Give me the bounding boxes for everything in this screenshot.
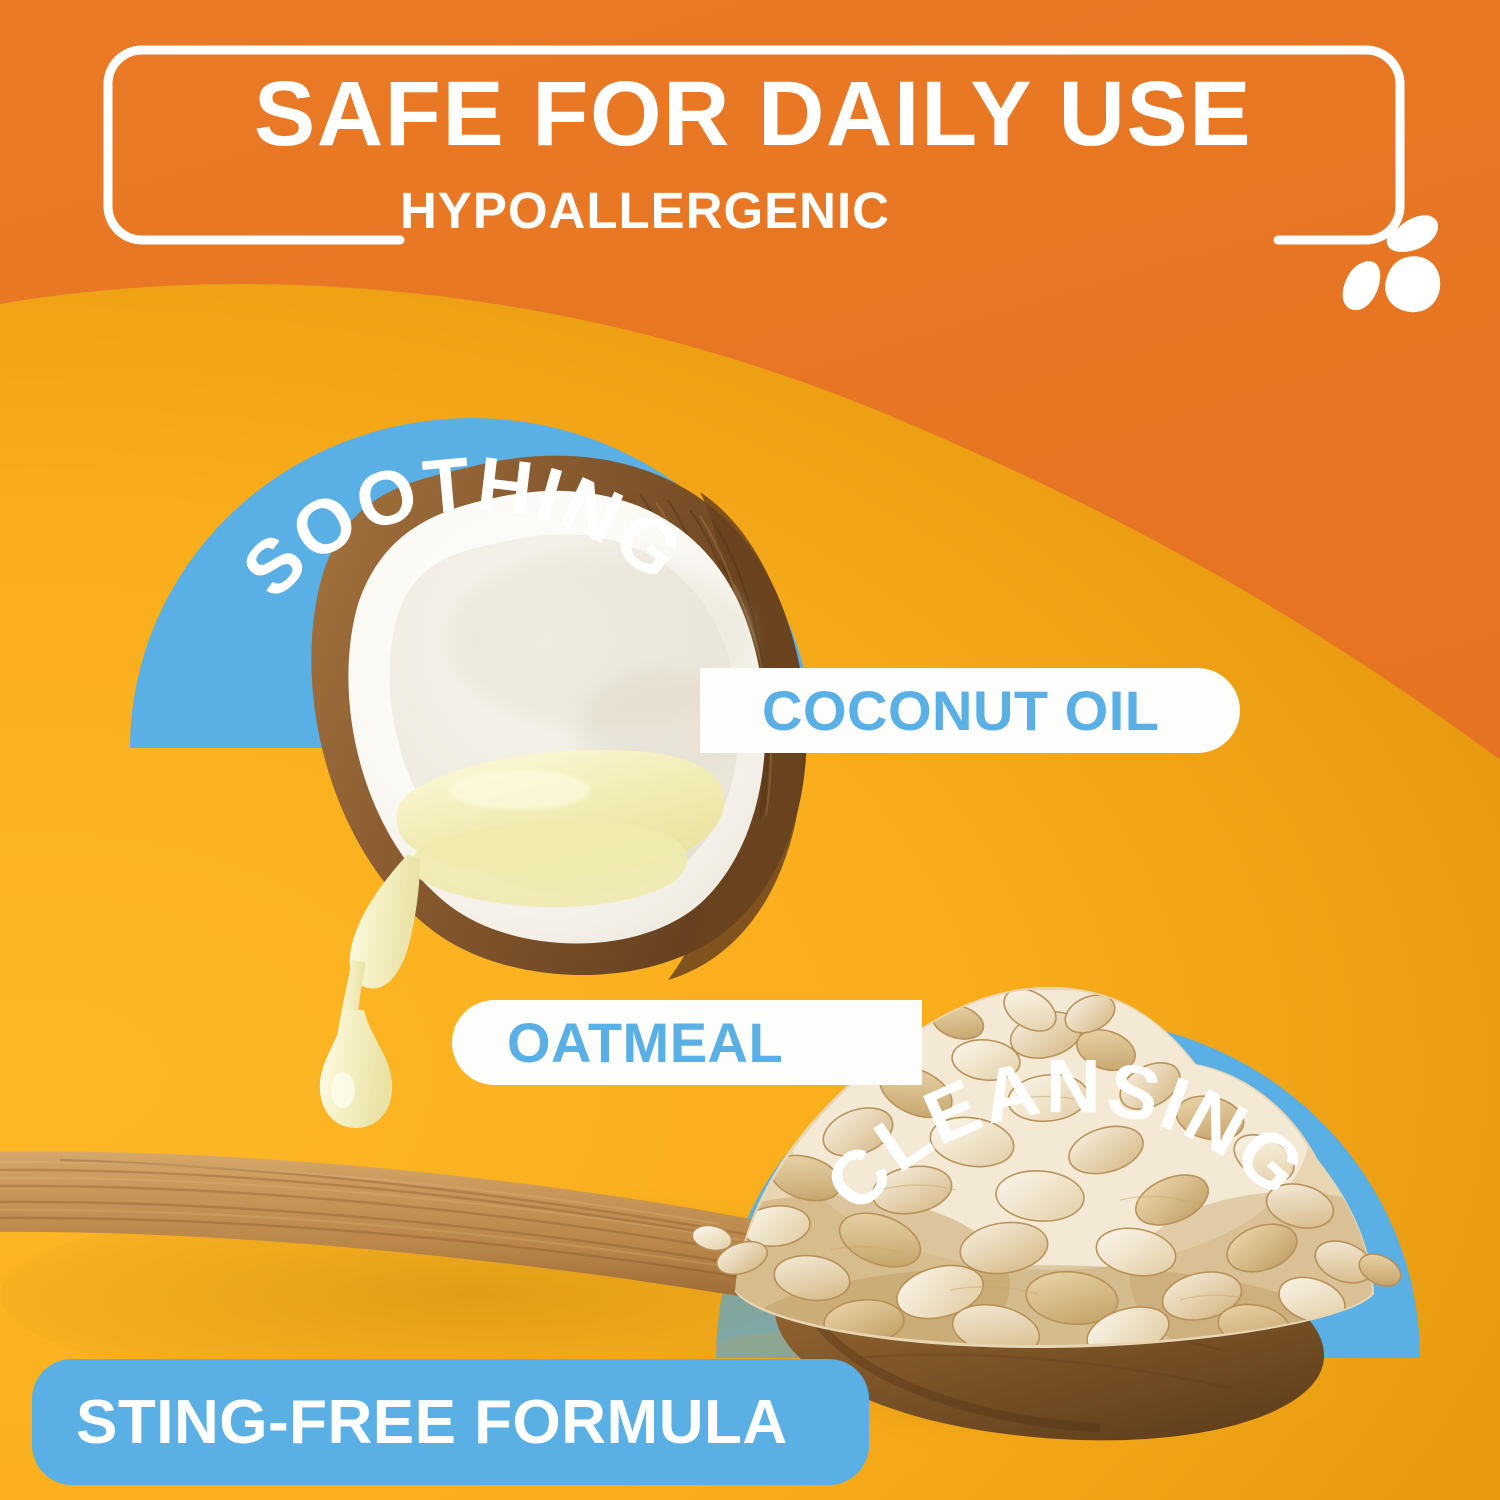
infographic-canvas: SOOTHING CLEANSING SAFE FOR DAILY USE HY… — [0, 0, 1500, 1500]
sting-free-formula-banner: STING-FREE FORMULA — [32, 1359, 869, 1485]
page-title: SAFE FOR DAILY USE — [108, 68, 1398, 160]
sting-free-formula-text: STING-FREE FORMULA — [76, 1387, 788, 1458]
page-subtitle: HYPOALLERGENIC — [0, 185, 1290, 236]
